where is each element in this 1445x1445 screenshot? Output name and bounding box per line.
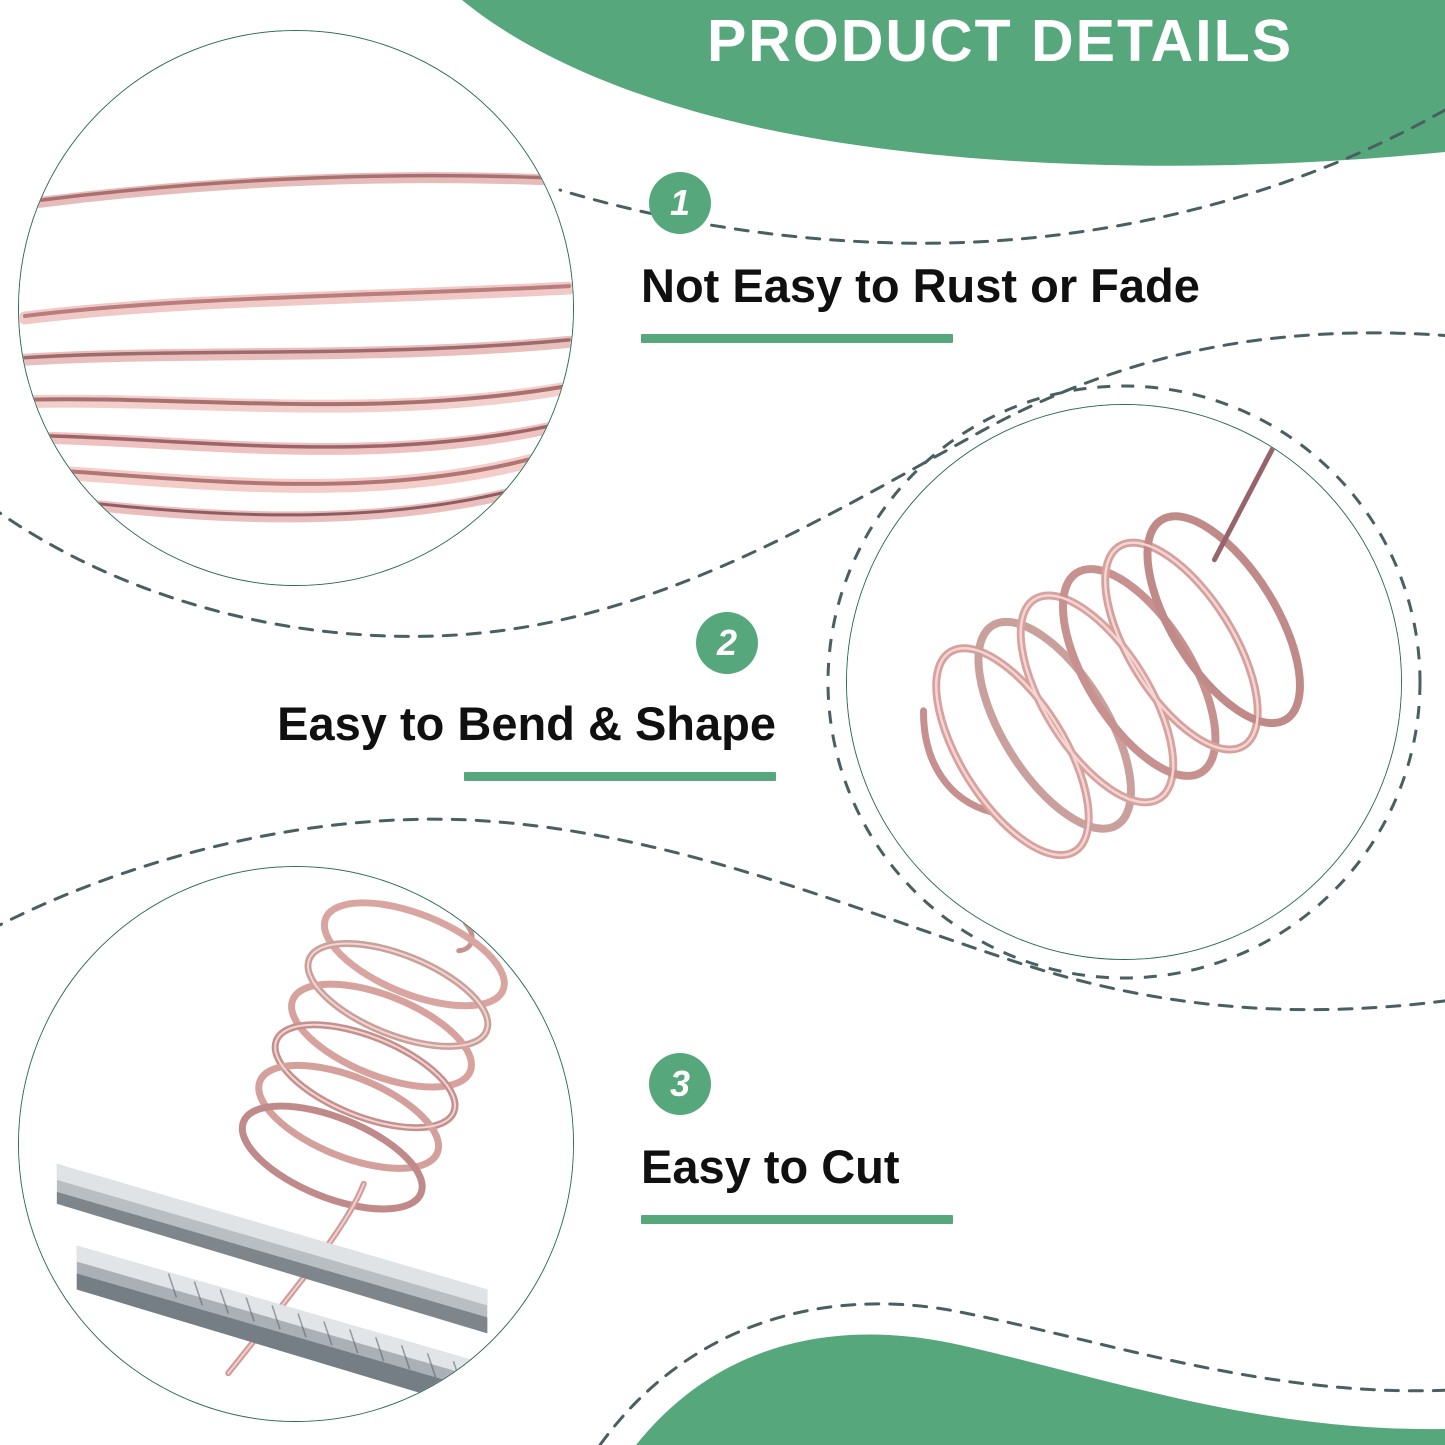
photo-wire-coil-spring xyxy=(846,404,1402,960)
photo-wire-cut-by-scissors xyxy=(18,866,574,1422)
feature-number-badge-1: 1 xyxy=(649,172,711,234)
scissors-cutting-wire-illustration xyxy=(19,867,573,1421)
feature-underline-1 xyxy=(641,334,953,343)
page-title: PRODUCT DETAILS xyxy=(640,12,1360,71)
feature-underline-2 xyxy=(464,772,776,781)
feature-number-badge-3: 3 xyxy=(649,1053,711,1115)
wire-coil-illustration xyxy=(847,405,1401,959)
product-details-poster: PRODUCT DETAILS xyxy=(0,0,1445,1445)
feature-title-1: Not Easy to Rust or Fade xyxy=(641,260,1200,312)
dashed-curve-bottom xyxy=(600,1304,1445,1445)
feature-block-2: 2 Easy to Bend & Shape xyxy=(236,612,776,781)
feature-block-3: 3 Easy to Cut xyxy=(641,1053,953,1224)
feature-block-1: 1 Not Easy to Rust or Fade xyxy=(641,172,1200,343)
wire-strands-illustration xyxy=(19,31,573,585)
feature-title-3: Easy to Cut xyxy=(641,1141,953,1193)
footer-green-wave xyxy=(636,1334,1445,1445)
photo-wire-strands-closeup xyxy=(18,30,574,586)
feature-title-2: Easy to Bend & Shape xyxy=(236,698,776,750)
feature-underline-3 xyxy=(641,1215,953,1224)
feature-number-badge-2: 2 xyxy=(696,612,758,674)
